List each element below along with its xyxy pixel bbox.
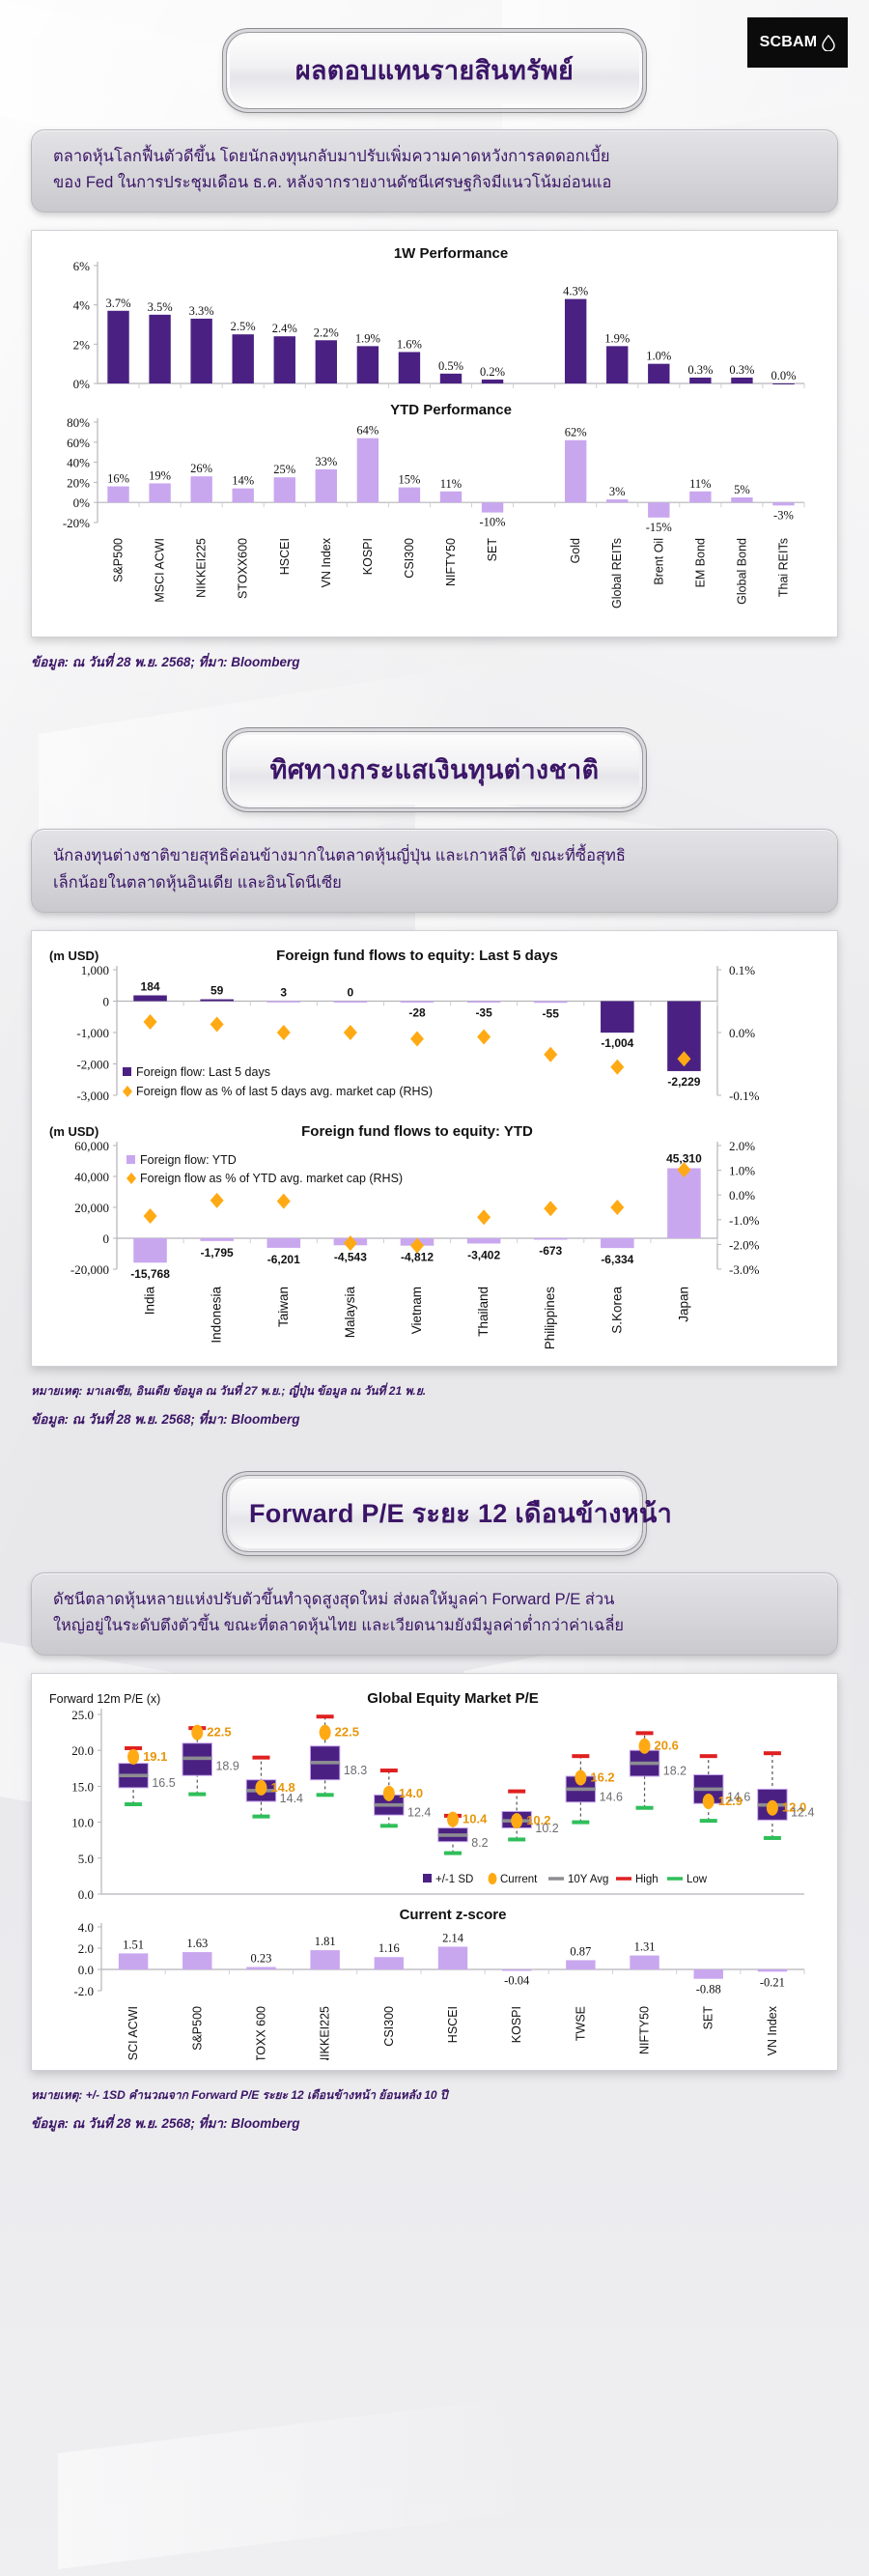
legend-swatch-ytd-bar — [126, 1155, 135, 1164]
bar-label-ytd: -3% — [773, 509, 794, 523]
bar-label-ytd: 15% — [398, 473, 420, 487]
pe-current-label: 10.4 — [463, 1812, 488, 1826]
bar-label-1w: 2.2% — [314, 326, 339, 340]
axis-note-pe: Forward 12m P/E (x) — [49, 1692, 160, 1706]
pe-current-marker — [511, 1813, 522, 1828]
x-label-asset: Brent Oil — [652, 538, 665, 585]
chart-ytd-title: YTD Performance — [390, 402, 512, 418]
bar-flow-5d — [200, 999, 234, 1001]
bar-ytd — [606, 500, 628, 503]
bar-label-5d: -2,229 — [667, 1075, 700, 1089]
diamond-marker-5d — [544, 1047, 557, 1062]
diamond-marker-ytd — [544, 1201, 557, 1216]
pe-avg-label: 10.2 — [535, 1822, 558, 1835]
section-1-description: ตลาดหุ้นโลกฟื้นตัวดีขึ้น โดยนักลงทุนกลับ… — [31, 129, 838, 212]
bar-label-zscore: 1.51 — [123, 1939, 144, 1952]
pe-current-marker — [383, 1786, 395, 1801]
bar-label-zscore: -0.04 — [504, 1974, 530, 1988]
x-label-index: S&P500 — [190, 2006, 204, 2051]
y-tick-rhs-ytd: 0.0% — [729, 1188, 755, 1203]
bar-ytd — [731, 497, 752, 502]
bar-ytd — [772, 503, 794, 506]
pe-avg-marker — [630, 1762, 659, 1766]
bar-zscore — [246, 1967, 275, 1970]
y-tick-5d: 0 — [103, 994, 110, 1008]
bar-1w — [190, 319, 211, 383]
pe-avg-marker — [694, 1788, 723, 1792]
bar-ytd — [107, 487, 128, 503]
bar-label-ytd: 11% — [440, 477, 462, 491]
section-3-description-text: ดัชนีตลาดหุ้นหลายแห่งปรับตัวขึ้นทำจุดสูง… — [53, 1587, 816, 1639]
pe-low-marker — [764, 1836, 781, 1840]
section-3-title: Forward P/E ระยะ 12 เดือนข้างหน้า — [249, 1492, 620, 1534]
bar-label-1w: 1.0% — [646, 350, 671, 363]
bar-1w — [731, 378, 752, 383]
y-tick-rhs-ytd: -3.0% — [729, 1262, 760, 1277]
x-label-asset: KOSPI — [361, 538, 375, 575]
bar-1w — [440, 374, 462, 383]
y-tick-zscore: 4.0 — [78, 1920, 94, 1935]
y-tick-1w: 2% — [73, 338, 91, 353]
diamond-marker-5d — [210, 1016, 224, 1032]
y-tick-5d: -1,000 — [76, 1026, 109, 1040]
pe-avg-label: 14.4 — [280, 1792, 303, 1805]
bar-ytd — [357, 439, 378, 503]
y-tick-pe: 25.0 — [71, 1708, 94, 1722]
bar-zscore — [758, 1969, 787, 1971]
y-tick-zscore: 2.0 — [78, 1941, 94, 1956]
pe-avg-label: 18.3 — [344, 1764, 367, 1777]
bar-1w — [357, 347, 378, 384]
section-2-note: หมายเหตุ: มาเลเซีย, อินเดีย ข้อมูล ณ วัน… — [31, 1382, 838, 1401]
y-tick-1w: 6% — [73, 259, 91, 273]
y-tick-flow-ytd: -20,000 — [70, 1262, 109, 1277]
x-label-country: Thailand — [476, 1287, 491, 1337]
bar-ytd — [274, 478, 295, 503]
pe-avg-label: 12.4 — [791, 1806, 814, 1820]
section-1-title: ผลตอบแทนรายสินทรัพย์ — [249, 49, 620, 91]
x-label-country: Philippines — [543, 1287, 557, 1350]
pe-current-label: 14.0 — [399, 1786, 423, 1800]
bar-label-ytd: 33% — [315, 455, 337, 468]
bar-label-5d: 0 — [348, 985, 354, 999]
pe-low-marker — [636, 1806, 654, 1810]
bar-label-1w: 1.9% — [604, 332, 630, 346]
pe-current-marker — [255, 1780, 266, 1796]
legend-swatch-5d-bar — [123, 1067, 131, 1076]
bar-ytd — [233, 489, 254, 503]
y-tick-flow-ytd: 20,000 — [74, 1201, 109, 1215]
section-2-description: นักลงทุนต่างชาติขายสุทธิค่อนข้างมากในตลา… — [31, 829, 838, 912]
pe-low-marker — [700, 1819, 717, 1823]
bar-label-zscore: 1.81 — [315, 1935, 336, 1948]
diamond-marker-ytd — [277, 1193, 291, 1208]
bar-zscore — [502, 1969, 531, 1971]
bar-1w — [399, 353, 420, 384]
logo-text: SCBAM — [760, 34, 818, 51]
bar-1w — [274, 337, 295, 384]
diamond-marker-5d — [477, 1029, 491, 1044]
bar-label-ytd: 25% — [273, 464, 295, 477]
unit-label-ytd: (m USD) — [49, 1124, 98, 1139]
bar-label-5d: -55 — [543, 1006, 560, 1020]
y-tick-rhs-ytd: -2.0% — [729, 1237, 760, 1252]
pe-current-label: 22.5 — [335, 1725, 359, 1740]
pe-avg-marker — [119, 1774, 148, 1778]
pe-high-marker — [572, 1754, 589, 1758]
y-tick-rhs-5d: -0.1% — [729, 1089, 760, 1103]
bar-label-5d: -35 — [475, 1006, 492, 1020]
x-label-asset: Thai REITs — [776, 538, 790, 597]
bar-ytd — [482, 503, 503, 513]
pe-current-label: 16.2 — [590, 1770, 614, 1785]
pe-high-marker — [700, 1754, 717, 1758]
section-1-header: ผลตอบแทนรายสินทรัพย์ — [0, 33, 869, 108]
scbam-logo: SCBAM — [747, 17, 848, 68]
pe-avg-marker — [182, 1757, 211, 1761]
bar-label-flow-ytd: -3,402 — [467, 1248, 500, 1261]
bar-1w — [233, 335, 254, 384]
bar-flow-5d — [133, 995, 167, 1001]
pe-high-marker — [252, 1756, 269, 1760]
pe-current-label: 19.1 — [143, 1749, 167, 1764]
y-tick-ytd: 20% — [67, 476, 90, 491]
bar-label-ytd: 26% — [190, 463, 212, 476]
legend-swatch-current — [489, 1873, 497, 1884]
bar-label-zscore: 1.31 — [634, 1940, 656, 1954]
chart-1w-title: 1W Performance — [394, 245, 508, 262]
diamond-marker-5d — [410, 1031, 424, 1046]
bar-label-1w: 0.0% — [771, 369, 796, 382]
bar-label-ytd: 64% — [356, 424, 378, 438]
legend-swatch-5d-pct — [123, 1086, 132, 1097]
x-label-country: S.Korea — [609, 1286, 624, 1333]
legend-label-ytd-pct: Foreign flow as % of YTD avg. market cap… — [140, 1172, 403, 1185]
x-label-index: SET — [702, 2006, 715, 2030]
bar-ytd — [316, 469, 337, 502]
pe-current-marker — [320, 1725, 331, 1741]
chart-zscore-title: Current z-score — [400, 1907, 507, 1923]
pe-low-marker — [252, 1815, 269, 1819]
pe-current-marker — [639, 1739, 651, 1754]
y-tick-rhs-ytd: 1.0% — [729, 1163, 755, 1177]
x-label-index: VN Index — [766, 2006, 779, 2056]
bar-label-1w: 3.7% — [106, 297, 131, 310]
bar-1w — [648, 364, 669, 383]
bar-flow-5d — [334, 1001, 368, 1003]
legend-label-5d-pct: Foreign flow as % of last 5 days avg. ma… — [136, 1085, 433, 1098]
y-tick-ytd: 60% — [67, 436, 90, 450]
section-2-header: ทิศทางกระแสเงินทุนต่างชาติ — [0, 732, 869, 807]
x-label-country: Japan — [676, 1287, 690, 1322]
x-label-index: NIFTY50 — [638, 2006, 652, 2054]
bar-flow-5d — [267, 1001, 301, 1003]
x-label-asset: Gold — [569, 538, 582, 563]
diamond-marker-5d — [344, 1025, 357, 1040]
x-label-asset: EM Bond — [693, 538, 707, 587]
bar-ytd — [565, 440, 586, 502]
y-tick-5d: -2,000 — [76, 1057, 109, 1071]
pe-low-marker — [188, 1793, 206, 1797]
bar-label-5d: -1,004 — [601, 1036, 633, 1050]
bar-label-flow-ytd: -6,201 — [267, 1253, 300, 1266]
x-label-country: Taiwan — [276, 1287, 291, 1327]
bar-flow-ytd — [200, 1238, 234, 1241]
x-label-country: Vietnam — [409, 1287, 424, 1334]
x-label-asset: STOXX600 — [237, 538, 250, 599]
section-2-source: ข้อมูล: ณ วันที่ 28 พ.ย. 2568; ที่มา: Bl… — [31, 1408, 838, 1430]
section-3-source: ข้อมูล: ณ วันที่ 28 พ.ย. 2568; ที่มา: Bl… — [31, 2112, 838, 2134]
bar-label-flow-ytd: -1,795 — [201, 1246, 234, 1260]
x-label-country: Malaysia — [343, 1286, 357, 1338]
section-1-source: ข้อมูล: ณ วันที่ 28 พ.ย. 2568; ที่มา: Bl… — [31, 651, 838, 672]
bar-flow-ytd — [667, 1168, 701, 1237]
x-label-index: NIKKEI225 — [319, 2006, 332, 2060]
y-tick-zscore: 0.0 — [78, 1963, 94, 1977]
bar-zscore — [630, 1956, 659, 1969]
x-label-asset: MSCI ACWI — [154, 538, 167, 603]
bar-label-1w: 0.3% — [687, 363, 713, 377]
bar-flow-5d — [467, 1001, 501, 1003]
pe-current-marker — [575, 1770, 586, 1786]
chart-5d-title: Foreign fund flows to equity: Last 5 day… — [276, 948, 558, 964]
bar-label-1w: 0.3% — [729, 363, 754, 377]
diamond-marker-ytd — [610, 1200, 624, 1215]
plaque-2: ทิศทางกระแสเงินทุนต่างชาติ — [227, 732, 642, 807]
section-1-chart-card: 1W Performance0%2%4%6%3.7%3.5%3.3%2.5%2.… — [31, 230, 838, 637]
x-label-asset: Global Bond — [735, 538, 748, 605]
x-label-asset: VN Index — [320, 538, 333, 588]
pe-low-marker — [380, 1825, 398, 1828]
x-label-country: Indonesia — [210, 1286, 224, 1343]
y-tick-pe: 15.0 — [71, 1780, 94, 1795]
diamond-marker-ytd — [477, 1209, 491, 1225]
legend-label-avg: 10Y Avg — [568, 1874, 608, 1885]
section-2-chart-card: (m USD)Foreign fund flows to equity: Las… — [31, 930, 838, 1367]
pe-low-marker — [317, 1794, 334, 1798]
y-tick-1w: 0% — [73, 377, 91, 391]
bar-label-1w: 2.5% — [231, 321, 256, 334]
bar-label-5d: 59 — [210, 983, 224, 997]
pe-current-marker — [447, 1812, 459, 1827]
y-tick-pe: 10.0 — [71, 1816, 94, 1830]
y-tick-zscore: -2.0 — [73, 1984, 94, 1998]
bar-flow-ytd — [601, 1238, 634, 1248]
y-tick-flow-ytd: 60,000 — [74, 1139, 109, 1153]
bar-label-ytd: -15% — [646, 521, 672, 534]
pe-high-marker — [317, 1715, 334, 1719]
y-tick-rhs-ytd: 2.0% — [729, 1139, 755, 1153]
section-3-description: ดัชนีตลาดหุ้นหลายแห่งปรับตัวขึ้นทำจุดสูง… — [31, 1572, 838, 1656]
y-tick-ytd: -20% — [63, 516, 90, 530]
pe-high-marker — [508, 1790, 525, 1794]
bar-zscore — [182, 1952, 211, 1969]
bar-label-zscore: 2.14 — [442, 1932, 464, 1945]
x-label-asset: S&P500 — [112, 538, 126, 582]
bar-label-ytd: 14% — [232, 474, 254, 488]
pe-current-marker — [191, 1725, 203, 1741]
y-tick-pe: 0.0 — [78, 1887, 94, 1902]
bar-label-1w: 1.6% — [397, 338, 422, 352]
pe-avg-marker — [566, 1788, 595, 1792]
y-tick-pe: 5.0 — [78, 1852, 94, 1866]
x-label-index: TWSE — [574, 2006, 587, 2041]
bar-label-1w: 0.2% — [480, 365, 505, 379]
bar-label-ytd: 11% — [689, 477, 711, 491]
bar-ytd — [190, 477, 211, 503]
y-tick-ytd: 80% — [67, 415, 90, 430]
section-1-description-text: ตลาดหุ้นโลกฟื้นตัวดีขึ้น โดยนักลงทุนกลับ… — [53, 144, 816, 196]
bar-flow-5d — [534, 1001, 568, 1003]
pe-avg-label: 18.2 — [663, 1765, 687, 1778]
pe-current-marker — [127, 1749, 139, 1765]
section-2-title: ทิศทางกระแสเงินทุนต่างชาติ — [249, 749, 620, 790]
bar-label-1w: 3.5% — [148, 300, 173, 314]
bar-label-ytd: 5% — [734, 483, 750, 496]
x-label-asset: NIKKEI225 — [195, 538, 209, 598]
pe-high-marker — [636, 1732, 654, 1736]
y-tick-rhs-5d: 0.1% — [729, 963, 755, 977]
x-label-country: India — [143, 1286, 157, 1315]
bar-label-flow-ytd: -15,768 — [130, 1267, 170, 1281]
x-label-index: STOXX 600 — [254, 2006, 267, 2060]
pe-current-label: 20.6 — [655, 1739, 679, 1753]
bar-label-ytd: 19% — [149, 469, 171, 483]
x-label-index: KOSPI — [510, 2006, 523, 2043]
bar-1w — [772, 383, 794, 384]
bar-ytd — [149, 484, 170, 503]
bar-label-ytd: 3% — [609, 486, 626, 499]
x-label-index: CSI300 — [382, 2006, 396, 2047]
bar-flow-5d — [401, 1001, 434, 1003]
bar-zscore — [694, 1969, 723, 1979]
bar-label-flow-ytd: -4,543 — [334, 1250, 367, 1263]
pe-avg-label: 14.6 — [727, 1791, 750, 1804]
y-tick-flow-ytd: 40,000 — [74, 1170, 109, 1184]
y-tick-5d: -3,000 — [76, 1089, 109, 1103]
bar-flow-5d — [601, 1001, 634, 1033]
pe-avg-marker — [438, 1834, 467, 1838]
y-tick-flow-ytd: 0 — [103, 1231, 110, 1246]
y-tick-rhs-5d: 0.0% — [729, 1026, 755, 1040]
bar-label-zscore: -0.88 — [696, 1983, 721, 1996]
bar-label-zscore: 0.23 — [251, 1952, 272, 1966]
y-tick-rhs-ytd: -1.0% — [729, 1213, 760, 1228]
bar-label-ytd: -10% — [480, 516, 506, 529]
bar-flow-ytd — [133, 1238, 167, 1262]
bar-1w — [565, 299, 586, 383]
bar-1w — [482, 380, 503, 383]
x-label-asset: CSI300 — [403, 538, 416, 579]
pe-avg-label: 12.4 — [407, 1806, 431, 1820]
y-tick-5d: 1,000 — [81, 963, 109, 977]
plaque-3: Forward P/E ระยะ 12 เดือนข้างหน้า — [227, 1476, 642, 1551]
bar-label-1w: 3.3% — [189, 304, 214, 318]
y-tick-ytd: 0% — [73, 496, 91, 511]
bar-1w — [316, 341, 337, 384]
x-label-index: MSCI ACWI — [126, 2006, 140, 2060]
bar-label-ytd: 62% — [565, 426, 587, 439]
section-3-note: หมายเหตุ: +/- 1SD คำนวณจาก Forward P/E ร… — [31, 2086, 838, 2105]
bar-1w — [107, 311, 128, 383]
bar-label-zscore: 1.63 — [186, 1937, 208, 1950]
bar-label-1w: 0.5% — [438, 359, 463, 373]
bar-label-ytd: 16% — [107, 472, 129, 486]
diamond-marker-ytd — [210, 1193, 224, 1208]
y-tick-1w: 4% — [73, 298, 91, 313]
pe-low-marker — [444, 1852, 462, 1855]
bar-label-5d: -28 — [408, 1005, 426, 1019]
diamond-marker-5d — [610, 1060, 624, 1075]
water-drop-icon — [822, 35, 835, 51]
diamond-marker-5d — [277, 1025, 291, 1040]
plaque-1: ผลตอบแทนรายสินทรัพย์ — [227, 33, 642, 108]
unit-label-5d: (m USD) — [49, 948, 98, 963]
section-2-description-text: นักลงทุนต่างชาติขายสุทธิค่อนข้างมากในตลา… — [53, 843, 816, 895]
asset-performance-chart: 1W Performance0%2%4%6%3.7%3.5%3.3%2.5%2.… — [42, 241, 829, 627]
legend-label-5d-bar: Foreign flow: Last 5 days — [136, 1065, 270, 1079]
chart-flow-ytd-title: Foreign fund flows to equity: YTD — [301, 1123, 533, 1140]
legend-swatch-ytd-pct — [126, 1173, 136, 1184]
bar-label-5d: 3 — [280, 985, 287, 999]
bar-flow-ytd — [467, 1238, 501, 1243]
section-3-chart-card: Forward 12m P/E (x)Global Equity Market … — [31, 1673, 838, 2071]
x-label-asset: NIFTY50 — [444, 538, 458, 586]
bar-zscore — [119, 1954, 148, 1970]
diamond-marker-ytd — [144, 1208, 157, 1224]
section-3-header: Forward P/E ระยะ 12 เดือนข้างหน้า — [0, 1476, 869, 1551]
bar-label-flow-ytd: -673 — [539, 1244, 562, 1258]
bar-label-flow-ytd: -6,334 — [601, 1253, 633, 1266]
bar-label-zscore: 1.16 — [378, 1942, 400, 1956]
y-tick-ytd: 40% — [67, 456, 90, 470]
pe-avg-label: 16.5 — [152, 1777, 175, 1791]
bar-1w — [689, 378, 711, 383]
bar-zscore — [438, 1947, 467, 1970]
pe-current-marker — [703, 1794, 715, 1809]
legend-label-ytd-bar: Foreign flow: YTD — [140, 1153, 237, 1167]
pe-avg-marker — [310, 1761, 339, 1765]
bar-ytd — [648, 503, 669, 519]
pe-avg-label: 14.6 — [600, 1791, 623, 1804]
bar-ytd — [689, 492, 711, 502]
bar-flow-ytd — [267, 1238, 301, 1248]
legend-swatch-sd — [423, 1874, 432, 1882]
legend-label-low: Low — [687, 1874, 708, 1885]
legend-label-high: High — [635, 1874, 659, 1885]
global-equity-pe-chart: Forward 12m P/E (x)Global Equity Market … — [42, 1684, 829, 2060]
bar-label-zscore: -0.21 — [760, 1976, 785, 1990]
chart-pe-title: Global Equity Market P/E — [367, 1690, 539, 1707]
bar-label-zscore: 0.87 — [570, 1945, 591, 1959]
legend-label-current: Current — [500, 1874, 538, 1885]
bar-label-1w: 1.9% — [355, 332, 380, 346]
foreign-fund-flows-chart: (m USD)Foreign fund flows to equity: Las… — [42, 941, 829, 1356]
pe-high-marker — [764, 1751, 781, 1755]
pe-high-marker — [380, 1769, 398, 1772]
pe-low-marker — [125, 1802, 142, 1806]
x-label-asset: HSCEI — [278, 538, 292, 575]
bar-ytd — [399, 488, 420, 503]
pe-current-label: 22.5 — [207, 1725, 231, 1740]
bar-1w — [149, 315, 170, 383]
pe-avg-label: 18.9 — [215, 1760, 238, 1773]
diamond-marker-5d — [144, 1014, 157, 1030]
bar-flow-ytd — [534, 1238, 568, 1240]
legend-label-sd: +/-1 SD — [435, 1874, 473, 1885]
bar-1w — [606, 347, 628, 384]
pe-low-marker — [508, 1838, 525, 1842]
